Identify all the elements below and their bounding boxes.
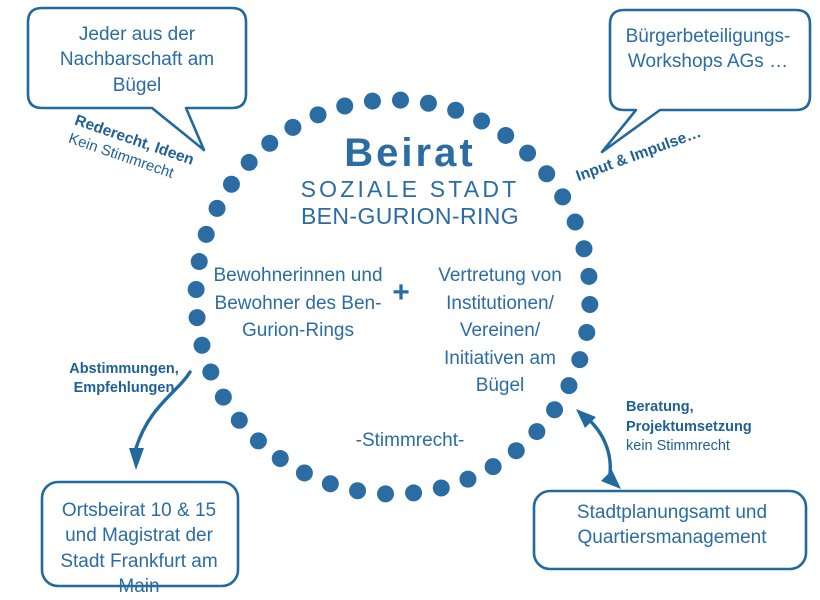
callout-bottom-left-label: Ortsbeirat 10 & 15 und Magistrat der Sta…: [46, 498, 232, 599]
edge-label-beratung-light: kein Stimmrecht: [626, 437, 794, 457]
ring-dot: [188, 281, 205, 298]
ring-dot: [231, 412, 248, 429]
ring-dot: [580, 268, 597, 285]
ring-dot: [310, 106, 327, 123]
ring-dot: [392, 92, 409, 109]
ring-dot: [485, 458, 502, 475]
ring-dot: [578, 324, 595, 341]
member-group-institutions: Vertretung von Institutionen/ Vereinen/ …: [420, 262, 580, 400]
ring-dot: [296, 464, 313, 481]
ring-dot: [546, 401, 563, 418]
ring-dot: [581, 296, 598, 313]
member-group-residents: Bewohnerinnen und Bewohner des Ben-Gurio…: [208, 262, 388, 345]
edge-label-abstimmungen: Abstimmungen, Empfehlungen: [44, 360, 204, 399]
plus-icon: +: [388, 278, 414, 308]
subtitle-ben-gurion-ring: BEN-GURION-RING: [0, 203, 820, 230]
ring-dot: [576, 240, 593, 257]
ring-dot: [191, 253, 208, 270]
ring-dot: [349, 482, 366, 499]
ring-dot: [215, 389, 232, 406]
ring-dot: [447, 102, 464, 119]
callout-top-right-label: Bürgerbeteiligungs- Workshops AGs …: [612, 24, 804, 75]
ring-dot: [202, 363, 219, 380]
ring-dot: [433, 480, 450, 497]
callout-bottom-right-label: Stadtplanungsamt und Quartiersmanagement: [548, 500, 796, 551]
ring-dot: [459, 471, 476, 488]
callout-top-left-label: Jeder aus der Nachbarschaft am Bügel: [44, 22, 230, 98]
diagram-canvas: Beirat SOZIALE STADT BEN-GURION-RING Bew…: [0, 0, 820, 600]
ring-dot: [322, 475, 339, 492]
edge-label-beratung-bold: Beratung, Projektumsetzung: [626, 398, 794, 437]
ring-dot: [473, 113, 490, 130]
ring-dot: [405, 484, 422, 501]
ring-dot: [189, 309, 206, 326]
ring-dot: [420, 95, 437, 112]
ring-dot: [364, 93, 381, 110]
ring-dot: [336, 98, 353, 115]
ring-dot: [272, 450, 289, 467]
edge-label-beratung: Beratung, Projektumsetzung kein Stimmrec…: [626, 398, 794, 457]
ring-dot: [377, 485, 394, 502]
subtitle-soziale-stadt: SOZIALE STADT: [0, 176, 820, 203]
